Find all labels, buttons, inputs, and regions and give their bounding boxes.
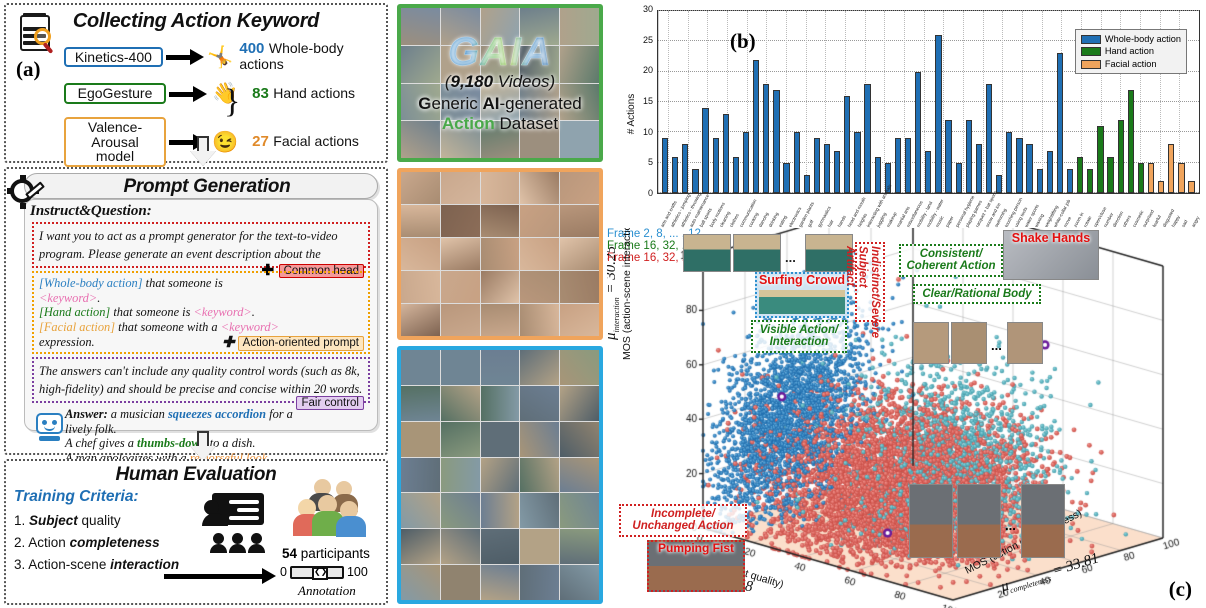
bar-column: [873, 11, 883, 193]
x-tick-label: sad: [1181, 219, 1189, 228]
line2-end: .: [252, 305, 255, 319]
flow-arrow-right-icon: [164, 571, 276, 581]
prompt-card: Instruct&Question: I want you to act as …: [24, 199, 378, 431]
bar-column: [711, 11, 721, 193]
collage-thumbnail: [481, 458, 520, 493]
panel-b-bar-chart: # Actions Whole-body actionHand actionFa…: [607, 0, 1206, 228]
server-search-icon: [18, 13, 58, 55]
criterion-2: 2. Action completeness: [14, 535, 224, 550]
bar[interactable]: [1097, 126, 1103, 193]
x-tick-label: hair: [827, 219, 835, 228]
collage-thumbnail: [401, 350, 440, 385]
bar-column: [771, 11, 781, 193]
bar[interactable]: [1178, 163, 1184, 193]
surfing-crowd-title: Surfing Crowd: [757, 273, 847, 287]
thumb-shake-3: [1007, 322, 1043, 364]
bar[interactable]: [743, 132, 749, 193]
bar-column: [893, 11, 903, 193]
bar[interactable]: [672, 157, 678, 193]
bar[interactable]: [763, 84, 769, 193]
collage-thumbnail: [481, 271, 520, 303]
label-facial: Facial actions: [273, 133, 359, 149]
bar-column: [1065, 11, 1075, 193]
panel-letter-a: (a): [16, 57, 41, 82]
legend-row: Hand action: [1081, 45, 1181, 57]
bar[interactable]: [662, 138, 668, 193]
collage-thumbnail: [481, 565, 520, 600]
collage-thumbnail: [520, 205, 559, 237]
collage-thumbnail: [481, 350, 520, 385]
bar-column: [913, 11, 923, 193]
x-tick-label: paper: [945, 215, 955, 228]
bar[interactable]: [783, 163, 789, 193]
cat-hand: [Hand action]: [39, 305, 110, 319]
training-criteria-label: Training Criteria:: [14, 488, 224, 506]
bar-column: [984, 11, 994, 193]
collage-thumbnail: [401, 565, 440, 600]
collage-thumbnail: [441, 84, 480, 121]
keyword-2: <keyword>: [194, 305, 252, 319]
plus-icon: ✚: [222, 334, 235, 351]
criterion-2-num: 2.: [14, 535, 25, 550]
thumb-fist-3: [1021, 484, 1065, 558]
collage-thumbnail: [560, 422, 599, 457]
collage-thumbnail: [441, 121, 480, 158]
line2-mid: that someone is: [110, 305, 193, 319]
annotation-label: Annotation: [298, 583, 356, 599]
keyword-3: <keyword>: [221, 320, 279, 334]
y-tick-label: 30: [631, 4, 653, 14]
bar[interactable]: [1006, 132, 1012, 193]
ellipsis-shake: ...: [991, 338, 1002, 353]
collage-thumbnail: [560, 8, 599, 45]
bar[interactable]: [1037, 169, 1043, 193]
z-axis-title: MOS (action-scene interaction): [621, 228, 633, 360]
collage-thumbnail: [441, 386, 480, 421]
collage-whole-body: [397, 4, 603, 162]
bar[interactable]: [682, 144, 688, 193]
thumb-shake-1: [913, 322, 949, 364]
bar-column: [954, 11, 964, 193]
collage-thumbnail: [481, 386, 520, 421]
legend-row: Facial action: [1081, 58, 1181, 70]
collage-thumbnail: [520, 121, 559, 158]
legend-swatch: [1081, 60, 1101, 69]
collage-thumbnail: [520, 84, 559, 121]
thumb-shake-2: [951, 322, 987, 364]
collage-thumbnail: [520, 422, 559, 457]
collage-thumbnail: [401, 458, 440, 493]
collage-thumbnail: [560, 386, 599, 421]
collage-thumbnail: [441, 205, 480, 237]
tag-action-oriented[interactable]: Action-oriented prompt: [238, 336, 364, 352]
collage-thumbnail: [481, 205, 520, 237]
collage-thumbnail: [441, 172, 480, 204]
legend-label: Hand action: [1105, 45, 1154, 57]
collage-thumbnail: [560, 84, 599, 121]
bar-column: [1004, 11, 1014, 193]
slider-track[interactable]: [290, 566, 344, 579]
collage-thumbnail: [401, 205, 440, 237]
bar[interactable]: [1168, 144, 1174, 193]
count-facial: 27: [252, 133, 269, 150]
thumb-surfing-crowd: Surfing Crowd: [755, 272, 849, 318]
collage-thumbnail: [520, 172, 559, 204]
answer-2-pre: A chef gives a: [65, 436, 137, 450]
bar-column: [690, 11, 700, 193]
collage-thumbnail: [560, 304, 599, 336]
collage-thumbnail: [560, 46, 599, 83]
collage-thumbnail: [481, 422, 520, 457]
thumb-surf-1: [683, 234, 731, 272]
bar[interactable]: [824, 144, 830, 193]
ellipsis-surf: ...: [785, 250, 796, 265]
collage-thumbnail: [560, 121, 599, 158]
bar[interactable]: [1087, 169, 1093, 193]
bar-column: [933, 11, 943, 193]
bar-column: [923, 11, 933, 193]
indistinct-artifact-note: Indistinct/SevereSubject Artifact: [855, 242, 885, 322]
prompt-title: Prompt Generation: [36, 176, 378, 198]
collage-thumbnail: [481, 304, 520, 336]
bar[interactable]: [1107, 157, 1113, 193]
common-head-block: I want you to act as a prompt generator …: [32, 222, 370, 268]
collage-thumbnail: [520, 458, 559, 493]
legend-label: Whole-body action: [1105, 33, 1181, 45]
collage-thumbnail: [520, 493, 559, 528]
robot-icon: [33, 409, 67, 443]
cat-facial: [Facial action]: [39, 320, 115, 334]
collage-thumbnail: [441, 422, 480, 457]
collage-thumbnail: [560, 529, 599, 564]
shake-hands-title: Shake Hands: [1004, 231, 1098, 245]
bar[interactable]: [723, 114, 729, 193]
collage-thumbnail: [481, 46, 520, 83]
bar[interactable]: [844, 96, 850, 193]
bar-column: [1187, 11, 1197, 193]
bar-column: [842, 11, 852, 193]
arrow-right-icon: [169, 88, 209, 100]
collage-hand: [397, 346, 603, 604]
collage-thumbnail: [560, 493, 599, 528]
bar-column: [792, 11, 802, 193]
common-head-text: I want you to act as a prompt generator …: [39, 229, 338, 261]
criterion-3: 3. Action-scene interaction: [14, 557, 224, 572]
answer-1-pre: a musician: [108, 407, 168, 421]
human-evaluation-box: Human Evaluation Training Criteria: 1. S…: [4, 459, 388, 605]
label-hand: Hand actions: [273, 85, 355, 101]
line4-text: expression.: [39, 335, 95, 349]
thumb-pumping-fist: Pumping Fist: [647, 540, 745, 592]
collage-thumbnail: [441, 565, 480, 600]
bar-column: [852, 11, 862, 193]
criterion-1-bold: Subject: [29, 513, 78, 528]
mu-symbol-interaction: μ: [607, 332, 619, 340]
bar[interactable]: [692, 169, 698, 193]
action-line-2: [Hand action] that someone is <keyword>.: [39, 305, 364, 320]
bar-column: [701, 11, 711, 193]
bar-column: [660, 11, 670, 193]
bar[interactable]: [834, 151, 840, 193]
collage-thumbnail: [441, 8, 480, 45]
bar[interactable]: [935, 35, 941, 193]
bar[interactable]: [1118, 120, 1124, 193]
x-axis-labels: arts and craftsathletics - jumpingathlet…: [659, 194, 1200, 228]
collage-thumbnail: [481, 529, 520, 564]
bar[interactable]: [1047, 151, 1053, 193]
collage-thumbnail: [520, 46, 559, 83]
legend-row: Whole-body action: [1081, 33, 1181, 45]
collage-thumbnail: [441, 350, 480, 385]
bar-column: [812, 11, 822, 193]
collage-thumbnail: [560, 205, 599, 237]
panel-dataset-collages: GAIA (9,180 Videos) Generic AI-generated…: [393, 0, 605, 608]
collage-thumbnail: [401, 304, 440, 336]
count-hand: 83: [252, 85, 269, 102]
source-egogesture[interactable]: EgoGesture: [64, 83, 166, 104]
gear-pencil-icon: [10, 175, 46, 209]
criterion-1-rest: quality: [78, 513, 121, 528]
source-kinetics-400[interactable]: Kinetics-400: [64, 47, 163, 68]
participants-count: 54: [282, 546, 297, 561]
criterion-2-pre: Action: [28, 535, 69, 550]
thumb-surf-2: [733, 234, 781, 272]
slider-knob[interactable]: [312, 567, 328, 580]
bar[interactable]: [1026, 144, 1032, 193]
collage-thumbnail: [401, 238, 440, 270]
bar-column: [1025, 11, 1035, 193]
bar[interactable]: [895, 138, 901, 193]
chart-legend: Whole-body actionHand actionFacial actio…: [1075, 29, 1187, 74]
bar[interactable]: [915, 72, 921, 193]
scale-max: 100: [347, 565, 368, 579]
annotation-slider[interactable]: 0 100: [280, 565, 368, 579]
count-whole-body: 400: [239, 40, 264, 57]
participants-group-icon: [296, 479, 368, 541]
action-line-3: [Facial action] that someone with a <key…: [39, 320, 364, 335]
action-line-4: expression. ✚ Action-oriented prompt: [39, 335, 364, 350]
bar[interactable]: [773, 90, 779, 193]
bar[interactable]: [1016, 138, 1022, 193]
bar[interactable]: [794, 132, 800, 193]
bar[interactable]: [814, 138, 820, 193]
bar-column: [964, 11, 974, 193]
collage-thumbnail: [481, 121, 520, 158]
bar[interactable]: [986, 84, 992, 193]
bar[interactable]: [1188, 181, 1194, 193]
prompt-generation-box: Prompt Generation Instruct&Question: I w…: [4, 167, 388, 455]
panel-letter-b: (b): [730, 29, 756, 54]
bar[interactable]: [702, 108, 708, 193]
thumb-fist-2: [957, 484, 1001, 558]
source-row-kinetics: Kinetics-400 🤸 400 Whole-body actions: [64, 41, 386, 73]
criterion-3-pre: Action-scene: [28, 557, 110, 572]
incomplete-unchanged-note: Incomplete/Unchanged Action: [619, 504, 747, 537]
x-tick-label: golf: [807, 219, 815, 228]
bar-column: [680, 11, 690, 193]
instruct-question-label: Instruct&Question:: [30, 203, 372, 220]
bar-column: [944, 11, 954, 193]
bar[interactable]: [713, 138, 719, 193]
x-tick-label: move: [1063, 216, 1073, 228]
action-line-1: [Whole-body action] that someone is <key…: [39, 276, 364, 305]
line3-mid: that someone with a: [115, 320, 221, 334]
bar[interactable]: [1128, 90, 1134, 193]
bar-column: [761, 11, 771, 193]
collage-thumbnail: [441, 46, 480, 83]
brace-icon: }: [224, 83, 240, 121]
consistent-coherent-note: Consistent/Coherent Action: [899, 244, 1003, 277]
bar[interactable]: [976, 144, 982, 193]
bar[interactable]: [864, 84, 870, 193]
x-tick-label: music: [935, 215, 945, 228]
answer-line-2: A chef gives a thumbs-down to a dish.: [65, 436, 372, 451]
collage-thumbnail: [560, 238, 599, 270]
bar-column: [1045, 11, 1055, 193]
x-tick-label: rotate: [1082, 215, 1092, 228]
x-tick-label: hands: [837, 215, 847, 228]
y-tick-label: 25: [631, 35, 653, 45]
collage-thumbnail: [441, 493, 480, 528]
bar[interactable]: [854, 132, 860, 193]
collage-thumbnail: [441, 304, 480, 336]
bar-column: [782, 11, 792, 193]
bar-column: [802, 11, 812, 193]
criterion-3-bold: interaction: [110, 557, 179, 572]
y-tick-label: 5: [631, 157, 653, 167]
legend-swatch: [1081, 35, 1101, 44]
bar-column: [1014, 11, 1024, 193]
action-oriented-block: [Whole-body action] that someone is <key…: [32, 271, 370, 354]
bar-column: [863, 11, 873, 193]
collage-thumbnail: [481, 238, 520, 270]
collage-thumbnail: [481, 493, 520, 528]
visible-action-note: Visible Action/Interaction: [751, 320, 847, 353]
bar[interactable]: [905, 138, 911, 193]
source-valence-arousal[interactable]: Valence-Arousal model: [64, 117, 166, 167]
collage-thumbnail: [520, 238, 559, 270]
y-tick-label: 15: [631, 96, 653, 106]
whole-body-person-icon: 🤸: [207, 47, 233, 68]
legend-label: Facial action: [1105, 58, 1157, 70]
collage-thumbnail: [481, 84, 520, 121]
collage-thumbnail: [401, 493, 440, 528]
keyword-1: <keyword>: [39, 291, 97, 305]
bar-chart-plot-area: Whole-body actionHand actionFacial actio…: [657, 10, 1200, 194]
answer-label: Answer:: [65, 407, 108, 421]
bar[interactable]: [966, 120, 972, 193]
x-tick-label: others: [1122, 214, 1132, 228]
bar[interactable]: [1148, 163, 1154, 193]
collage-thumbnail: [520, 271, 559, 303]
criterion-3-num: 3.: [14, 557, 25, 572]
collage-thumbnail: [441, 458, 480, 493]
flow-arrow-down-icon-2: [190, 431, 216, 461]
collage-thumbnail: [441, 271, 480, 303]
bar-column: [974, 11, 984, 193]
y-tick-label: 10: [631, 127, 653, 137]
collage-thumbnail: [401, 46, 440, 83]
collage-thumbnail: [481, 172, 520, 204]
teacher-classroom-icon: [204, 493, 266, 553]
flow-arrow-down-icon: [190, 136, 216, 166]
panel-letter-c: (c): [1169, 577, 1192, 602]
line1-mid: that someone is: [143, 276, 223, 290]
legend-swatch: [1081, 47, 1101, 56]
x-tick-label: waxing: [1033, 213, 1044, 228]
fair-control-block: The answers can't include any quality co…: [32, 357, 370, 403]
collecting-action-keyword-box: Collecting Action Keyword (a) Kinetics-4…: [4, 3, 388, 163]
x-tick-label: eating: [778, 215, 788, 228]
thumb-fist-1: [909, 484, 953, 558]
x-tick-label: angry: [1191, 215, 1201, 228]
criterion-1-num: 1.: [14, 513, 25, 528]
y-tick-label: 20: [631, 65, 653, 75]
bar-column: [822, 11, 832, 193]
bar-column: [832, 11, 842, 193]
collage-thumbnail: [520, 386, 559, 421]
cat-whole-body: [Whole-body action]: [39, 276, 143, 290]
bar[interactable]: [1077, 157, 1083, 193]
collage-thumbnail: [560, 458, 599, 493]
collage-thumbnail: [560, 565, 599, 600]
bar-column: [1055, 11, 1065, 193]
collage-thumbnail: [401, 172, 440, 204]
collage-thumbnail: [401, 529, 440, 564]
bar[interactable]: [1158, 181, 1164, 193]
collage-thumbnail: [401, 121, 440, 158]
bar[interactable]: [925, 151, 931, 193]
bar[interactable]: [1067, 169, 1073, 193]
collage-thumbnail: [401, 84, 440, 121]
collage-thumbnail: [520, 8, 559, 45]
collage-thumbnail: [520, 350, 559, 385]
collage-thumbnail: [520, 565, 559, 600]
collage-thumbnail: [520, 304, 559, 336]
bar-column: [670, 11, 680, 193]
collage-thumbnail: [520, 529, 559, 564]
collage-facial: [397, 168, 603, 340]
collect-title: Collecting Action Keyword: [6, 10, 386, 33]
mu-interaction: μinteraction = 30.25: [607, 246, 621, 340]
source-row-egogesture: EgoGesture 👋 83 Hand actions: [64, 83, 355, 104]
collage-thumbnail: [441, 529, 480, 564]
bar[interactable]: [804, 175, 810, 193]
bar[interactable]: [753, 60, 759, 193]
line1-end: .: [97, 291, 100, 305]
bar-column: [903, 11, 913, 193]
ellipsis-fist: ...: [1005, 518, 1016, 533]
collage-thumbnail: [401, 386, 440, 421]
bar[interactable]: [945, 120, 951, 193]
answer-1-highlight: squeezes accordion: [168, 407, 266, 421]
bar[interactable]: [1057, 53, 1063, 193]
bar[interactable]: [1138, 163, 1144, 193]
y-tick-label: 0: [631, 188, 653, 198]
x-tick-label: happy: [1171, 215, 1181, 228]
fair-control-text: The answers can't include any quality co…: [39, 364, 362, 396]
bar[interactable]: [875, 157, 881, 193]
panel-a-pipeline: Collecting Action Keyword (a) Kinetics-4…: [0, 0, 392, 608]
bar-column: [994, 11, 1004, 193]
participants-label: participants: [301, 546, 370, 561]
collage-thumbnail: [560, 172, 599, 204]
bar[interactable]: [733, 157, 739, 193]
bar[interactable]: [956, 163, 962, 193]
panel-c-3d-scatter: MOS (action-scene interaction) μinteract…: [607, 228, 1206, 608]
scale-min: 0: [280, 565, 287, 579]
thumb-shake-hands: Shake Hands: [1003, 230, 1099, 280]
